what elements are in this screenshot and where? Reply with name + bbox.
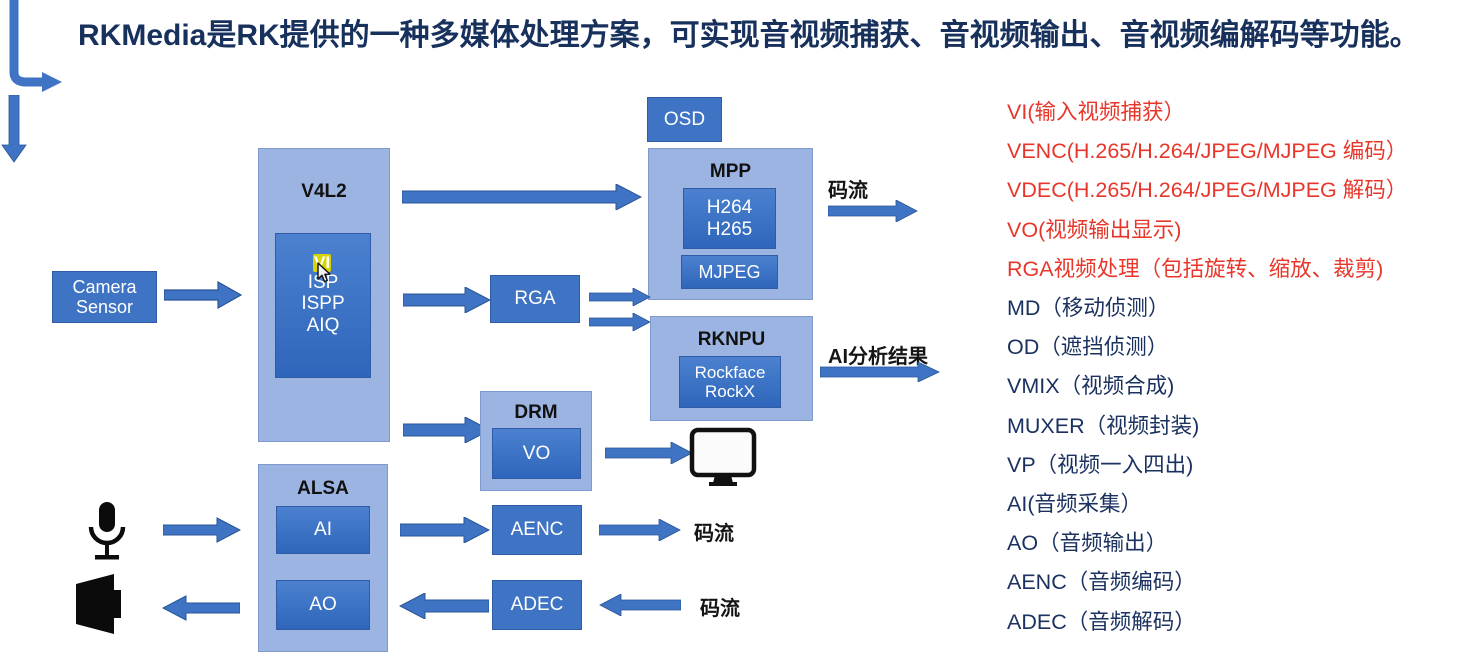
legend-item-adec: ADEC（音频解码） [1007, 603, 1467, 642]
slide-canvas: RKMedia是RK提供的一种多媒体处理方案，可实现音视频捕获、音视频输出、音视… [0, 0, 1479, 664]
h264-label: H264 [707, 197, 752, 218]
legend-item-aenc: AENC（音频编码） [1007, 563, 1467, 602]
mpp-title: MPP [649, 161, 812, 183]
legend-item-venc: VENC(H.265/H.264/JPEG/MJPEG 编码） [1007, 132, 1467, 171]
osd-box[interactable]: OSD [647, 97, 722, 142]
ispp-label: ISPP [301, 293, 344, 314]
arrow-alsa-to-speaker [160, 595, 240, 621]
adec-label: ADEC [511, 594, 564, 615]
arrow-ai-to-aenc [400, 517, 490, 543]
alsa-ai-label: AI [314, 519, 332, 540]
arrow-rga-to-rknpu [589, 313, 651, 331]
adec-box[interactable]: ADEC [492, 580, 582, 630]
alsa-ai-box[interactable]: AI [276, 506, 370, 554]
arrow-adec-to-ao [399, 593, 489, 619]
rknpu-model-box[interactable]: Rockface RockX [679, 356, 781, 408]
mjpeg-label: MJPEG [698, 262, 760, 282]
arrow-stream-to-adec [599, 594, 681, 616]
rockface-label: Rockface [695, 363, 766, 382]
arrow-v4l2-to-rga [403, 287, 491, 313]
drm-title: DRM [481, 402, 591, 424]
h265-label: H265 [707, 219, 752, 240]
camera-sensor-line1: Camera [72, 277, 136, 297]
arrow-rga-to-mpp [589, 288, 651, 306]
arrow-rknpu-to-ai-result [820, 362, 940, 382]
rockx-label: RockX [705, 382, 755, 401]
drm-vo-box[interactable]: VO [492, 428, 581, 479]
monitor-icon [689, 427, 757, 492]
arrow-vo-to-monitor [605, 442, 693, 464]
legend-item-od: OD（遮挡侦测） [1007, 328, 1467, 367]
arrow-v4l2-to-mpp [402, 184, 642, 210]
alsa-title: ALSA [259, 478, 387, 500]
arrow-aenc-to-stream [599, 519, 681, 541]
aenc-box[interactable]: AENC [492, 505, 582, 555]
rga-label: RGA [514, 288, 555, 309]
legend-item-vi: VI(输入视频捕获） [1007, 93, 1467, 132]
mpp-codec-box[interactable]: H264 H265 [683, 188, 776, 249]
microphone-icon [82, 500, 132, 567]
legend-list: VI(输入视频捕获） VENC(H.265/H.264/JPEG/MJPEG 编… [1007, 93, 1467, 642]
mouse-cursor-icon [317, 262, 333, 289]
osd-label: OSD [664, 109, 705, 130]
legend-item-rga: RGA视频处理（包括旋转、缩放、裁剪) [1007, 250, 1467, 289]
alsa-ao-label: AO [309, 594, 336, 615]
speaker-icon [72, 572, 142, 639]
stream-label-mpp: 码流 [828, 174, 868, 203]
legend-item-vo: VO(视频输出显示) [1007, 211, 1467, 250]
aenc-label: AENC [511, 519, 564, 540]
legend-item-ai: AI(音频采集） [1007, 485, 1467, 524]
rknpu-title: RKNPU [651, 329, 812, 351]
aiq-label: AIQ [307, 315, 340, 336]
legend-item-ao: AO（音频输出） [1007, 524, 1467, 563]
arrow-camera-to-v4l2 [164, 281, 242, 309]
legend-item-vp: VP（视频一入四出) [1007, 446, 1467, 485]
arrow-mpp-to-stream [828, 200, 918, 222]
legend-item-md: MD（移动侦测） [1007, 289, 1467, 328]
v4l2-title: V4L2 [259, 181, 389, 203]
vo-label: VO [523, 443, 550, 464]
camera-sensor-box[interactable]: Camera Sensor [52, 271, 157, 323]
legend-item-vdec: VDEC(H.265/H.264/JPEG/MJPEG 解码） [1007, 171, 1467, 210]
rga-box[interactable]: RGA [490, 275, 580, 323]
alsa-ao-box[interactable]: AO [276, 580, 370, 630]
stream-label-adec: 码流 [700, 592, 740, 621]
mpp-mjpeg-box[interactable]: MJPEG [681, 255, 778, 289]
stream-label-aenc: 码流 [694, 517, 734, 546]
arrow-mic-to-alsa [163, 517, 241, 543]
arrow-v4l2-to-drm [403, 417, 491, 443]
legend-item-muxer: MUXER（视频封装) [1007, 407, 1467, 446]
camera-sensor-line2: Sensor [76, 297, 133, 317]
page-title: RKMedia是RK提供的一种多媒体处理方案，可实现音视频捕获、音视频输出、音视… [78, 16, 1448, 56]
legend-item-vmix: VMIX（视频合成) [1007, 367, 1467, 406]
